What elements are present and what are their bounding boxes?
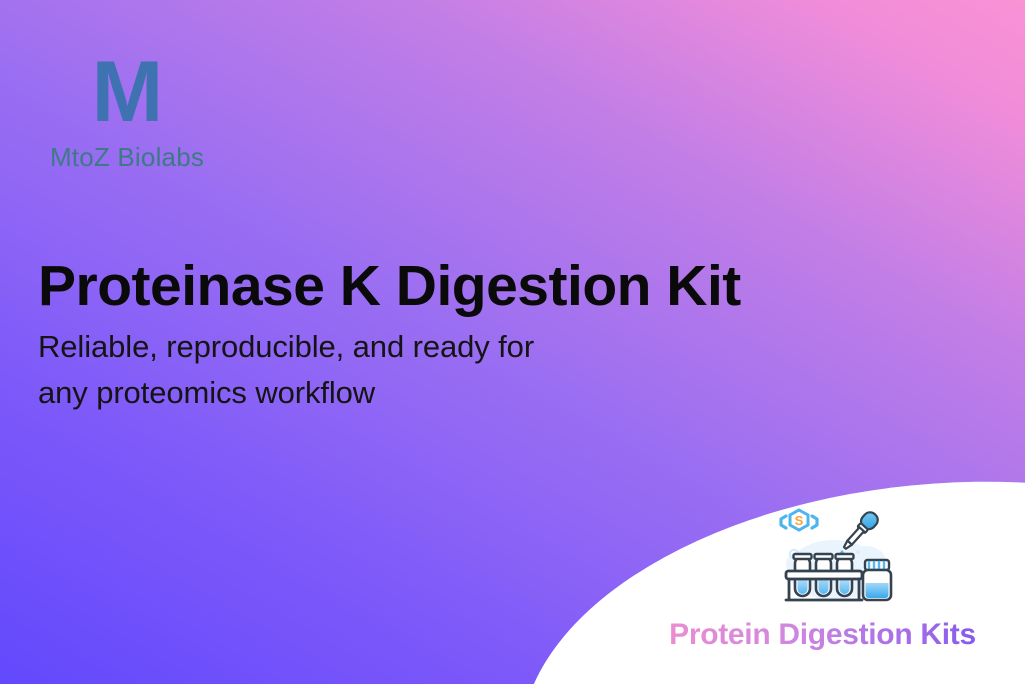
product-illustration: S	[768, 508, 898, 613]
page-title: Proteinase K Digestion Kit	[38, 256, 741, 318]
product-callout: S	[620, 500, 1025, 684]
brand-logo: M MtoZ Biolabs	[38, 52, 288, 170]
svg-text:S: S	[795, 513, 804, 528]
page-subtitle-line-1: Reliable, reproducible, and ready for	[38, 324, 534, 370]
page-subtitle-line-2: any proteomics workflow	[38, 370, 534, 416]
test-tube-rack-icon	[786, 554, 862, 600]
brand-monogram-icon: M	[38, 52, 216, 134]
molecule-sulfur-badge-icon: S	[781, 510, 817, 530]
reagent-bottle-icon	[863, 560, 891, 600]
product-category-label: Protein Digestion Kits	[620, 618, 1025, 652]
brand-name: MtoZ Biolabs	[38, 144, 216, 170]
page-subtitle: Reliable, reproducible, and ready for an…	[38, 324, 534, 416]
promo-banner: M MtoZ Biolabs Proteinase K Digestion Ki…	[0, 0, 1025, 684]
